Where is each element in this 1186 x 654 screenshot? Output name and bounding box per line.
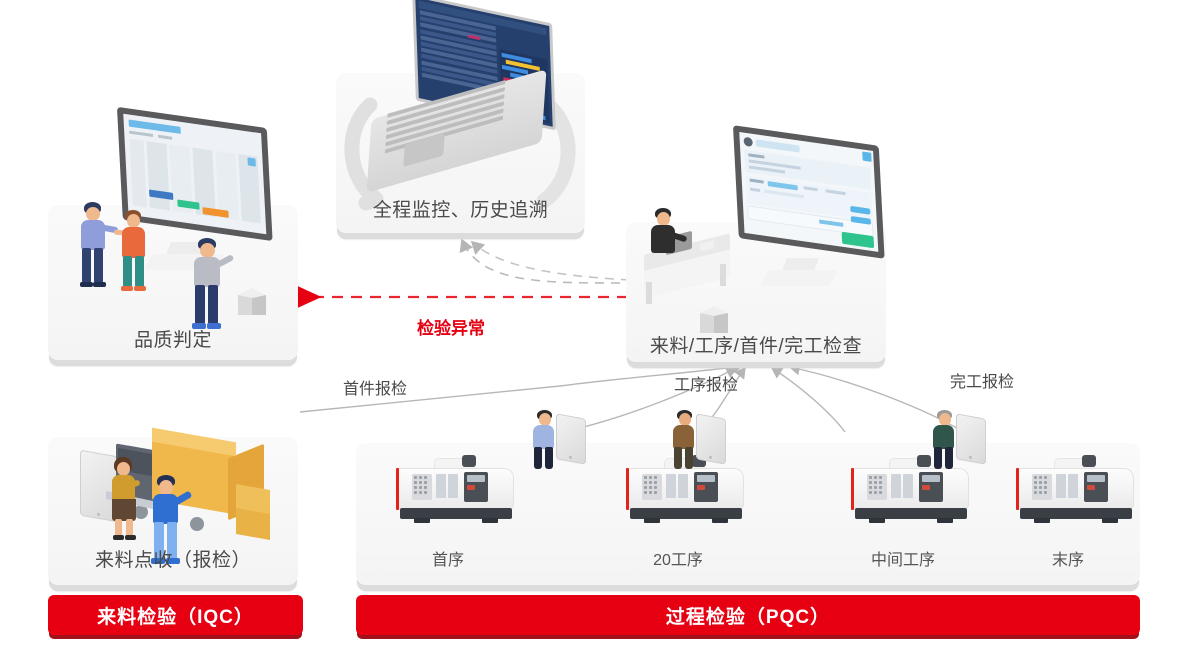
panel-judgement-label: 品质判定 xyxy=(48,325,298,352)
panel-inspection-label: 来料/工序/首件/完工检查 xyxy=(626,331,886,358)
flow-label-finish: 完工报检 xyxy=(950,368,1014,392)
station-2-label: 20工序 xyxy=(608,546,748,570)
judgement-illustration xyxy=(48,110,298,360)
diagram-canvas: 全程监控、历史追溯 xyxy=(0,0,1186,654)
station-3-label: 中间工序 xyxy=(833,546,973,570)
laptop-icon xyxy=(364,35,564,205)
tablet-icon xyxy=(956,413,986,464)
person-icon xyxy=(670,410,700,472)
flow-label-first-article: 首件报检 xyxy=(343,375,407,399)
panel-monitoring[interactable]: 全程监控、历史追溯 xyxy=(336,73,585,233)
person-icon xyxy=(118,210,152,292)
operator-station-1 xyxy=(520,410,590,480)
panel-monitoring-label: 全程监控、历史追溯 xyxy=(336,195,585,222)
station-4-label: 末序 xyxy=(998,546,1138,570)
person-icon xyxy=(76,202,112,288)
tablet-icon xyxy=(556,413,586,464)
person-icon xyxy=(108,457,142,541)
person-icon xyxy=(648,208,680,270)
station-1-label: 首序 xyxy=(378,546,518,570)
inspection-illustration xyxy=(626,130,886,362)
cube-icon xyxy=(238,288,266,318)
cnc-machine-icon xyxy=(1010,458,1140,530)
panel-receiving-label: 来料点收（报检） xyxy=(48,545,298,572)
person-icon xyxy=(930,410,960,472)
monitor-icon xyxy=(733,125,885,267)
flow-label-process: 工序报检 xyxy=(674,371,738,395)
person-icon xyxy=(188,238,228,334)
pqc-banner[interactable]: 过程检验（PQC） xyxy=(356,595,1140,635)
iqc-banner[interactable]: 来料检验（IQC） xyxy=(48,595,303,635)
flow-label-exception: 检验异常 xyxy=(417,314,485,339)
tablet-icon xyxy=(696,413,726,464)
person-icon xyxy=(530,410,560,472)
operator-station-3 xyxy=(920,410,990,480)
operator-station-2 xyxy=(660,410,730,480)
cnc-machine-icon xyxy=(390,458,520,530)
